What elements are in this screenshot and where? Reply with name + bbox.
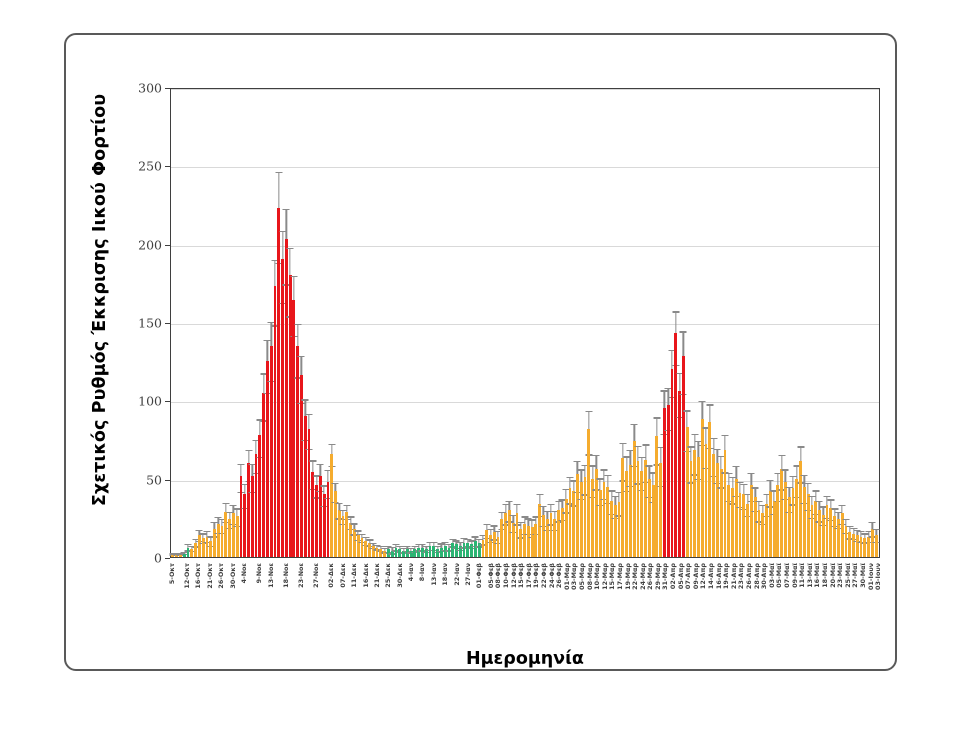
chart-frame: Σχετικός Ρυθμός Έκκρισης Ιικού Φορτίου 0… <box>64 33 897 671</box>
x-tick-label: 03-Ιουν <box>874 563 882 590</box>
y-tick-label: 0 <box>154 551 162 566</box>
y-tick-label: 50 <box>146 472 162 487</box>
y-tick-label: 150 <box>138 316 162 331</box>
bar <box>875 535 878 557</box>
y-tick-label: 200 <box>138 237 162 252</box>
x-tick-slot: 03-Ιουν <box>876 559 880 621</box>
y-tick-label: 250 <box>138 159 162 174</box>
y-tick-label: 100 <box>138 394 162 409</box>
error-bar-cap <box>873 529 880 530</box>
y-axis: 050100150200250300 <box>106 88 170 558</box>
x-axis: 5-Οκτ12-Οκτ16-Οκτ21-Οκτ26-Οκτ30-Οκτ4-Νοε… <box>170 559 880 621</box>
x-axis-title: Ημερομηνία <box>170 649 880 669</box>
bar-slot <box>874 89 878 557</box>
bar-series <box>171 89 879 557</box>
chart-page: Σχετικός Ρυθμός Έκκρισης Ιικού Φορτίου 0… <box>0 0 960 742</box>
plot-area <box>170 88 880 558</box>
y-tick-label: 300 <box>138 81 162 96</box>
